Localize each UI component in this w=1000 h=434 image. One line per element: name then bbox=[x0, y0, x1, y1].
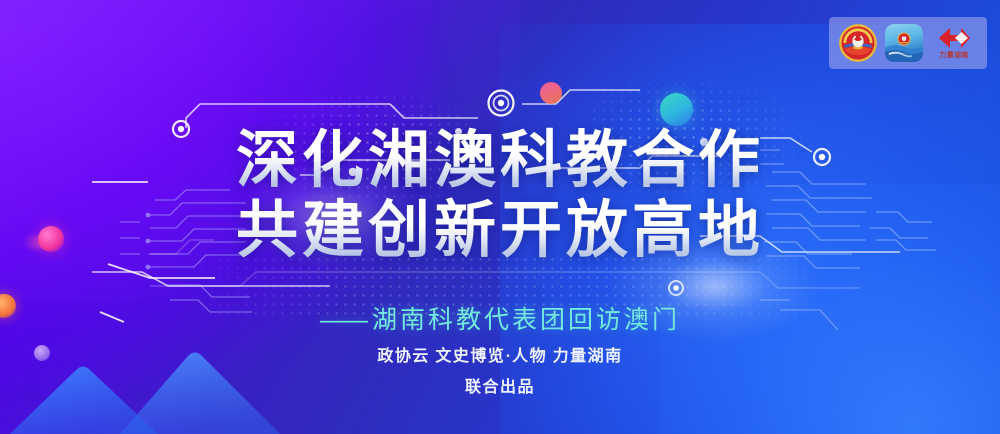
title-line-2: 共建创新开放高地 bbox=[0, 196, 1000, 266]
main-title: 深化湘澳科教合作 共建创新开放高地 bbox=[0, 126, 1000, 266]
credits-line-2: 联合出品 bbox=[0, 377, 1000, 399]
credits-line-1: 政协云 文史博览·人物 力量湖南 bbox=[0, 346, 1000, 368]
liliang-hunan-logo: 力量湖南 bbox=[931, 24, 977, 62]
subtitle: ——湖南科教代表团回访澳门 bbox=[0, 300, 1000, 336]
subtitle-dash: —— bbox=[320, 306, 366, 334]
liliang-hunan-mark-icon bbox=[937, 27, 971, 49]
banner-poster: 深化湘澳科教合作 共建创新开放高地 ——湖南科教代表团回访澳门 政协云 文史博览… bbox=[0, 0, 1000, 434]
title-line-1: 深化湘澳科教合作 bbox=[0, 126, 1000, 196]
accent-dot-teal bbox=[660, 93, 693, 126]
cppcc-emblem-icon bbox=[839, 24, 877, 62]
credits-block: 政协云 文史博览·人物 力量湖南 联合出品 bbox=[0, 346, 1000, 399]
subtitle-text: 湖南科教代表团回访澳门 bbox=[372, 306, 680, 334]
accent-dot-warm bbox=[540, 82, 562, 104]
zhengxieyun-app-icon bbox=[885, 24, 923, 62]
liliang-hunan-label: 力量湖南 bbox=[939, 50, 968, 60]
logo-bar: 力量湖南 bbox=[829, 17, 987, 69]
